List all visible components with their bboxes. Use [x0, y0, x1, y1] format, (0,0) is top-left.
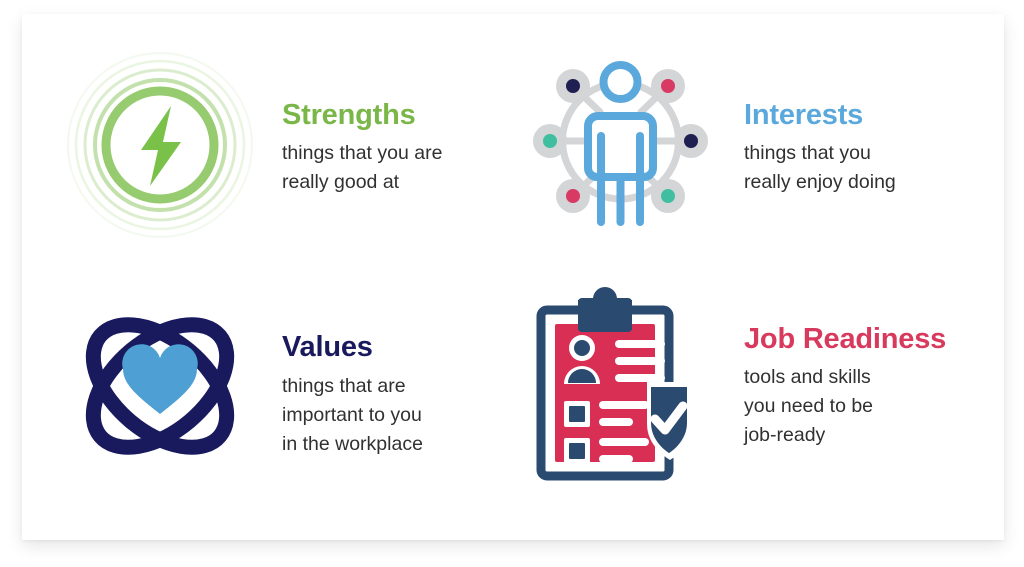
job-readiness-title: Job Readiness — [744, 324, 990, 354]
values-description: things that are important to you in the … — [282, 372, 520, 459]
strengths-title: Strengths — [282, 100, 520, 130]
heart-shape — [122, 344, 198, 414]
person-network-nodes-icon — [528, 54, 713, 229]
job-readiness-icon-wrap — [520, 286, 720, 486]
values-icon-wrap — [60, 304, 260, 469]
strengths-icon-wrap — [60, 50, 260, 240]
atom-orbit-heart-icon — [75, 304, 245, 469]
node-dot-teal-bottom-right — [661, 189, 675, 203]
node-dot-navy-right — [684, 134, 698, 148]
quadrant-values[interactable]: Values things that are important to you … — [60, 282, 520, 512]
node-dot-teal-left — [543, 134, 557, 148]
values-text: Values things that are important to you … — [260, 282, 520, 459]
node-dot-pink-top-right — [661, 79, 675, 93]
slide-card: Strengths things that you are really goo… — [22, 14, 1004, 540]
clipboard-shield-check-icon — [531, 286, 709, 486]
interests-title: Interests — [744, 100, 990, 130]
strengths-description: things that you are really good at — [282, 139, 520, 197]
quadrant-interests[interactable]: Interests things that you really enjoy d… — [520, 48, 990, 268]
strengths-text: Strengths things that you are really goo… — [260, 48, 520, 197]
quadrant-job-readiness[interactable]: Job Readiness tools and skills you need … — [520, 272, 990, 512]
interests-description: things that you really enjoy doing — [744, 139, 990, 197]
quadrant-grid: Strengths things that you are really goo… — [22, 14, 1004, 540]
quadrant-strengths[interactable]: Strengths things that you are really goo… — [60, 48, 520, 268]
job-readiness-description: tools and skills you need to be job-read… — [744, 363, 990, 450]
node-dot-navy-top-left — [566, 79, 580, 93]
interests-icon-wrap — [520, 54, 720, 229]
node-dot-pink-bottom-left — [566, 189, 580, 203]
values-title: Values — [282, 332, 520, 362]
interests-text: Interests things that you really enjoy d… — [720, 48, 990, 197]
lightning-bolt-radiating-circles-icon — [65, 50, 255, 240]
job-readiness-text: Job Readiness tools and skills you need … — [720, 272, 990, 450]
